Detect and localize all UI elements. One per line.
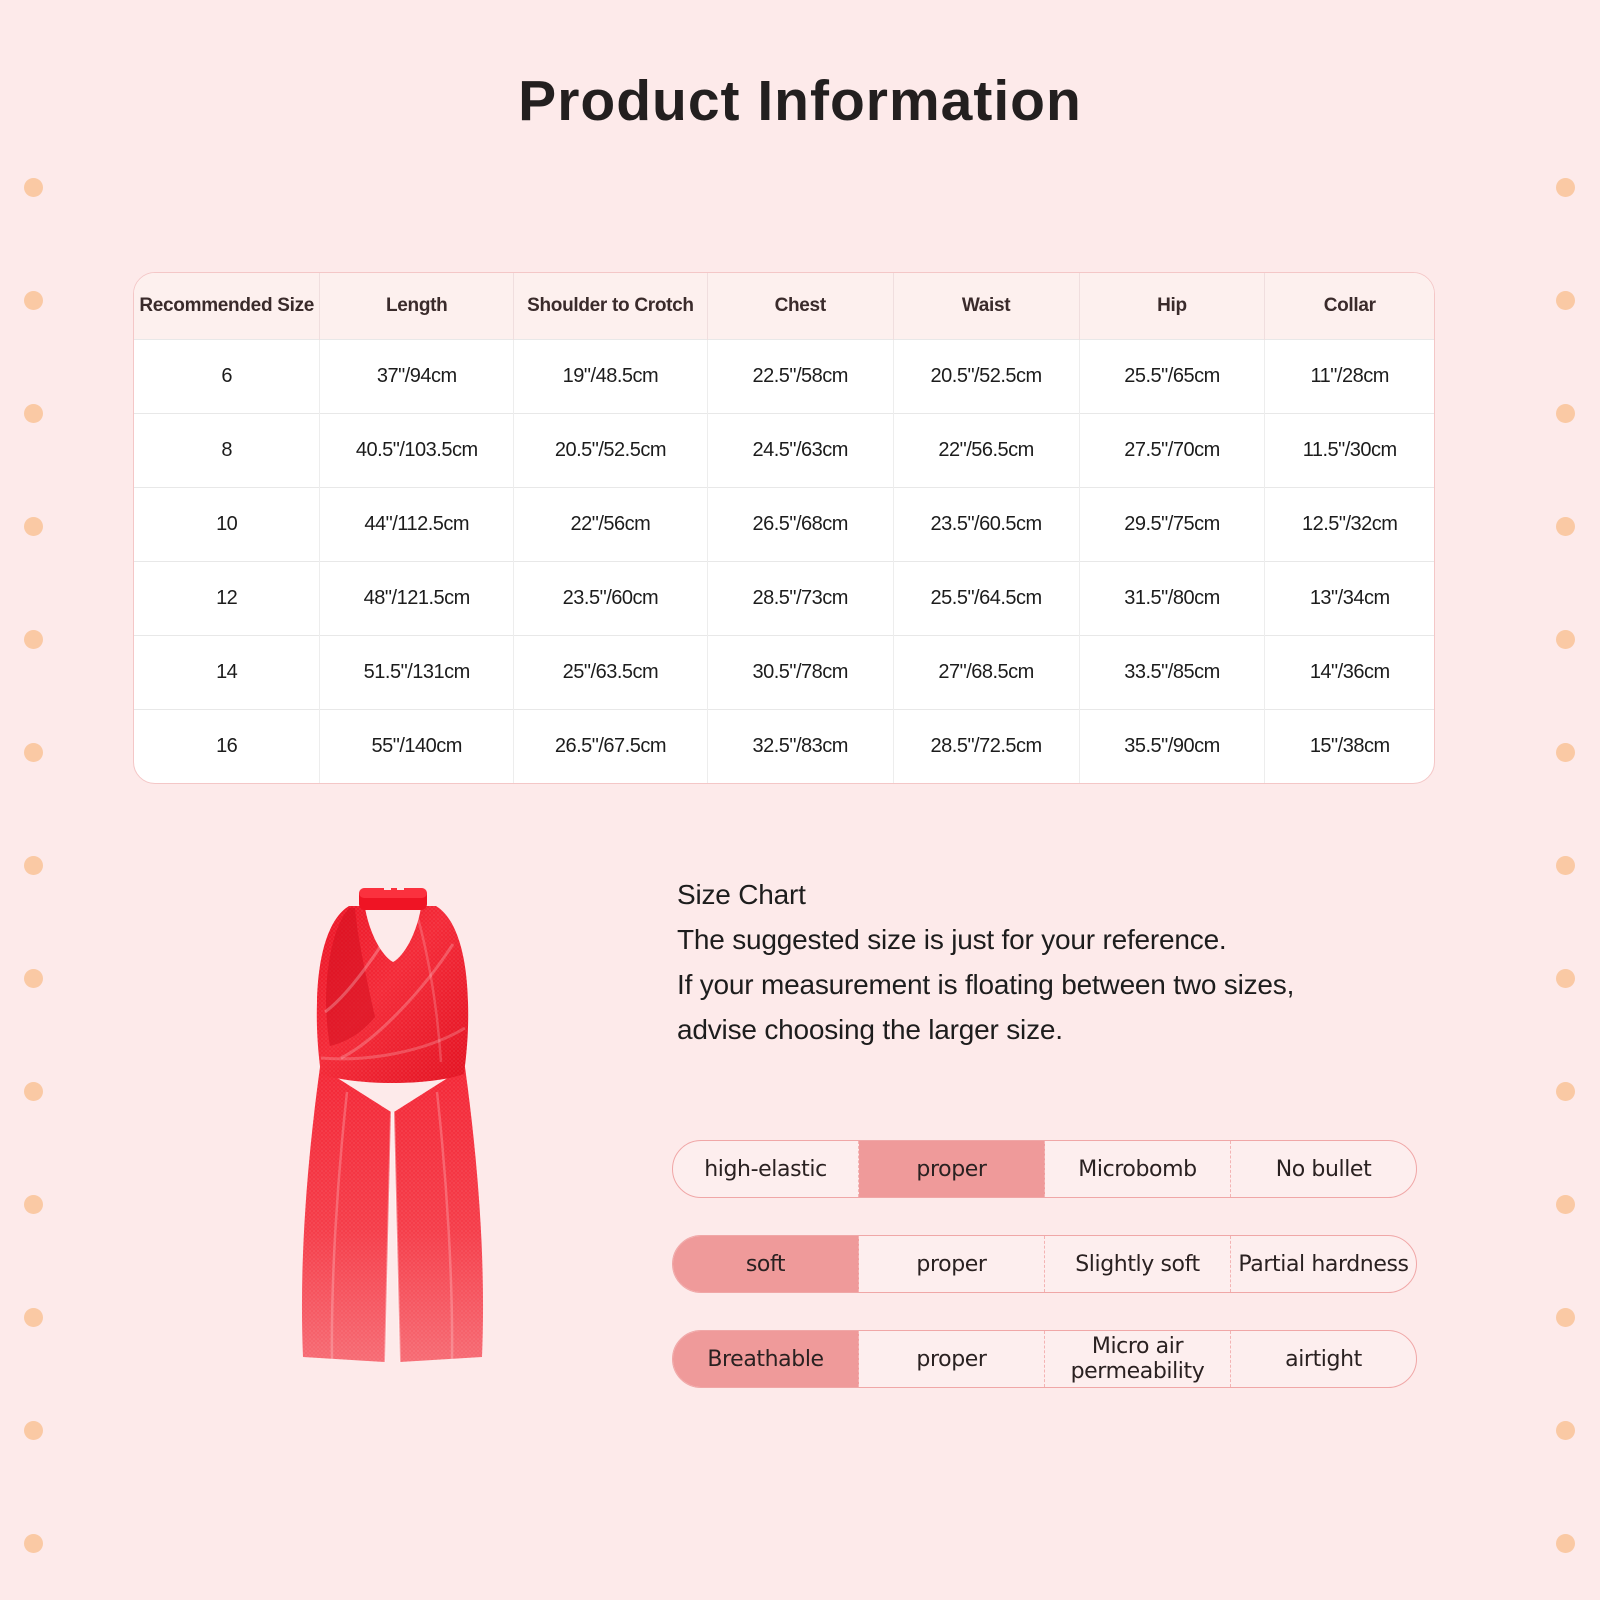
table-row: 1248"/121.5cm23.5"/60cm28.5"/73cm25.5"/6…: [134, 561, 1434, 635]
table-cell: 11"/28cm: [1265, 339, 1434, 413]
table-row: 840.5"/103.5cm20.5"/52.5cm24.5"/63cm22"/…: [134, 413, 1434, 487]
table-row: 637"/94cm19"/48.5cm22.5"/58cm20.5"/52.5c…: [134, 339, 1434, 413]
table-cell: 33.5"/85cm: [1079, 635, 1265, 709]
decorative-dot: [1556, 1082, 1575, 1101]
decorative-dot: [1556, 630, 1575, 649]
size-chart-line-2: If your measurement is floating between …: [677, 962, 1437, 1007]
size-table-header-2: Length: [320, 273, 514, 339]
property-segment[interactable]: Microbomb: [1045, 1141, 1231, 1197]
decorative-dot: [1556, 404, 1575, 423]
size-table-head: Recommended SizeLengthShoulder to Crotch…: [134, 273, 1434, 339]
table-cell: 23.5"/60.5cm: [893, 487, 1079, 561]
decorative-dot: [24, 1195, 43, 1214]
decorative-dot: [24, 517, 43, 536]
table-cell: 40.5"/103.5cm: [320, 413, 514, 487]
property-segment[interactable]: airtight: [1231, 1331, 1416, 1387]
decorative-dot: [24, 743, 43, 762]
size-table: Recommended SizeLengthShoulder to Crotch…: [134, 273, 1434, 783]
product-image: [285, 862, 500, 1374]
property-bar-elasticity: high-elasticproperMicrobombNo bullet: [672, 1140, 1417, 1198]
table-cell: 27"/68.5cm: [893, 635, 1079, 709]
decorative-dot: [1556, 291, 1575, 310]
table-cell: 22"/56.5cm: [893, 413, 1079, 487]
property-segment[interactable]: proper: [859, 1236, 1045, 1292]
table-cell: 29.5"/75cm: [1079, 487, 1265, 561]
table-cell: 28.5"/73cm: [707, 561, 893, 635]
decorative-dot: [24, 1534, 43, 1553]
size-table-header-3: Shoulder to Crotch: [514, 273, 708, 339]
table-cell: 26.5"/67.5cm: [514, 709, 708, 783]
table-cell: 19"/48.5cm: [514, 339, 708, 413]
table-row: 1044"/112.5cm22"/56cm26.5"/68cm23.5"/60.…: [134, 487, 1434, 561]
table-cell: 10: [134, 487, 320, 561]
decorative-dots-left: [8, 0, 68, 1600]
property-bars: high-elasticproperMicrobombNo bulletsoft…: [672, 1140, 1417, 1425]
table-row: 1655"/140cm26.5"/67.5cm32.5"/83cm28.5"/7…: [134, 709, 1434, 783]
table-cell: 26.5"/68cm: [707, 487, 893, 561]
table-cell: 27.5"/70cm: [1079, 413, 1265, 487]
decorative-dot: [24, 291, 43, 310]
decorative-dot: [24, 1308, 43, 1327]
property-segment[interactable]: No bullet: [1231, 1141, 1416, 1197]
decorative-dot: [24, 178, 43, 197]
size-table-header-1: Recommended Size: [134, 273, 320, 339]
table-cell: 20.5"/52.5cm: [514, 413, 708, 487]
decorative-dot: [24, 969, 43, 988]
table-cell: 15"/38cm: [1265, 709, 1434, 783]
decorative-dot: [24, 630, 43, 649]
table-cell: 48"/121.5cm: [320, 561, 514, 635]
page-title: Product Information: [0, 68, 1600, 134]
decorative-dot: [1556, 743, 1575, 762]
property-segment[interactable]: Slightly soft: [1045, 1236, 1231, 1292]
table-cell: 51.5"/131cm: [320, 635, 514, 709]
table-cell: 8: [134, 413, 320, 487]
table-cell: 32.5"/83cm: [707, 709, 893, 783]
table-cell: 37"/94cm: [320, 339, 514, 413]
decorative-dot: [1556, 1308, 1575, 1327]
table-cell: 25.5"/64.5cm: [893, 561, 1079, 635]
table-cell: 31.5"/80cm: [1079, 561, 1265, 635]
decorative-dot: [1556, 1195, 1575, 1214]
property-bar-softness: softproperSlightly softPartial hardness: [672, 1235, 1417, 1293]
table-cell: 14: [134, 635, 320, 709]
table-row: 1451.5"/131cm25"/63.5cm30.5"/78cm27"/68.…: [134, 635, 1434, 709]
property-segment[interactable]: proper: [859, 1141, 1045, 1197]
property-segment[interactable]: proper: [859, 1331, 1045, 1387]
property-segment[interactable]: Breathable: [673, 1331, 859, 1387]
size-table-container: Recommended SizeLengthShoulder to Crotch…: [133, 272, 1435, 784]
table-cell: 28.5"/72.5cm: [893, 709, 1079, 783]
decorative-dot: [1556, 1421, 1575, 1440]
decorative-dot: [24, 404, 43, 423]
table-cell: 24.5"/63cm: [707, 413, 893, 487]
property-segment[interactable]: soft: [673, 1236, 859, 1292]
table-cell: 25"/63.5cm: [514, 635, 708, 709]
table-cell: 13"/34cm: [1265, 561, 1434, 635]
decorative-dot: [1556, 517, 1575, 536]
table-cell: 16: [134, 709, 320, 783]
decorative-dot: [1556, 1534, 1575, 1553]
decorative-dot: [24, 856, 43, 875]
table-cell: 12.5"/32cm: [1265, 487, 1434, 561]
table-cell: 11.5"/30cm: [1265, 413, 1434, 487]
size-table-header-row: Recommended SizeLengthShoulder to Crotch…: [134, 273, 1434, 339]
decorative-dots-right: [1540, 0, 1600, 1600]
table-cell: 14"/36cm: [1265, 635, 1434, 709]
decorative-dot: [1556, 969, 1575, 988]
size-table-header-6: Hip: [1079, 273, 1265, 339]
size-chart-line-3: advise choosing the larger size.: [677, 1007, 1437, 1052]
table-cell: 23.5"/60cm: [514, 561, 708, 635]
table-cell: 6: [134, 339, 320, 413]
decorative-dot: [1556, 856, 1575, 875]
size-table-body: 637"/94cm19"/48.5cm22.5"/58cm20.5"/52.5c…: [134, 339, 1434, 783]
size-chart-line-1: The suggested size is just for your refe…: [677, 917, 1437, 962]
decorative-dot: [24, 1082, 43, 1101]
table-cell: 22"/56cm: [514, 487, 708, 561]
size-table-header-5: Waist: [893, 273, 1079, 339]
decorative-dot: [24, 1421, 43, 1440]
table-cell: 22.5"/58cm: [707, 339, 893, 413]
table-cell: 25.5"/65cm: [1079, 339, 1265, 413]
decorative-dot: [1556, 178, 1575, 197]
property-segment[interactable]: Partial hardness: [1231, 1236, 1416, 1292]
table-cell: 30.5"/78cm: [707, 635, 893, 709]
table-cell: 55"/140cm: [320, 709, 514, 783]
property-segment[interactable]: high-elastic: [673, 1141, 859, 1197]
table-cell: 35.5"/90cm: [1079, 709, 1265, 783]
table-cell: 44"/112.5cm: [320, 487, 514, 561]
table-cell: 20.5"/52.5cm: [893, 339, 1079, 413]
property-segment[interactable]: Micro air permeability: [1045, 1331, 1231, 1387]
size-chart-heading: Size Chart: [677, 872, 1437, 917]
size-table-header-7: Collar: [1265, 273, 1434, 339]
property-bar-breathability: BreathableproperMicro air permeabilityai…: [672, 1330, 1417, 1388]
size-chart-note: Size Chart The suggested size is just fo…: [677, 872, 1437, 1052]
table-cell: 12: [134, 561, 320, 635]
size-table-header-4: Chest: [707, 273, 893, 339]
